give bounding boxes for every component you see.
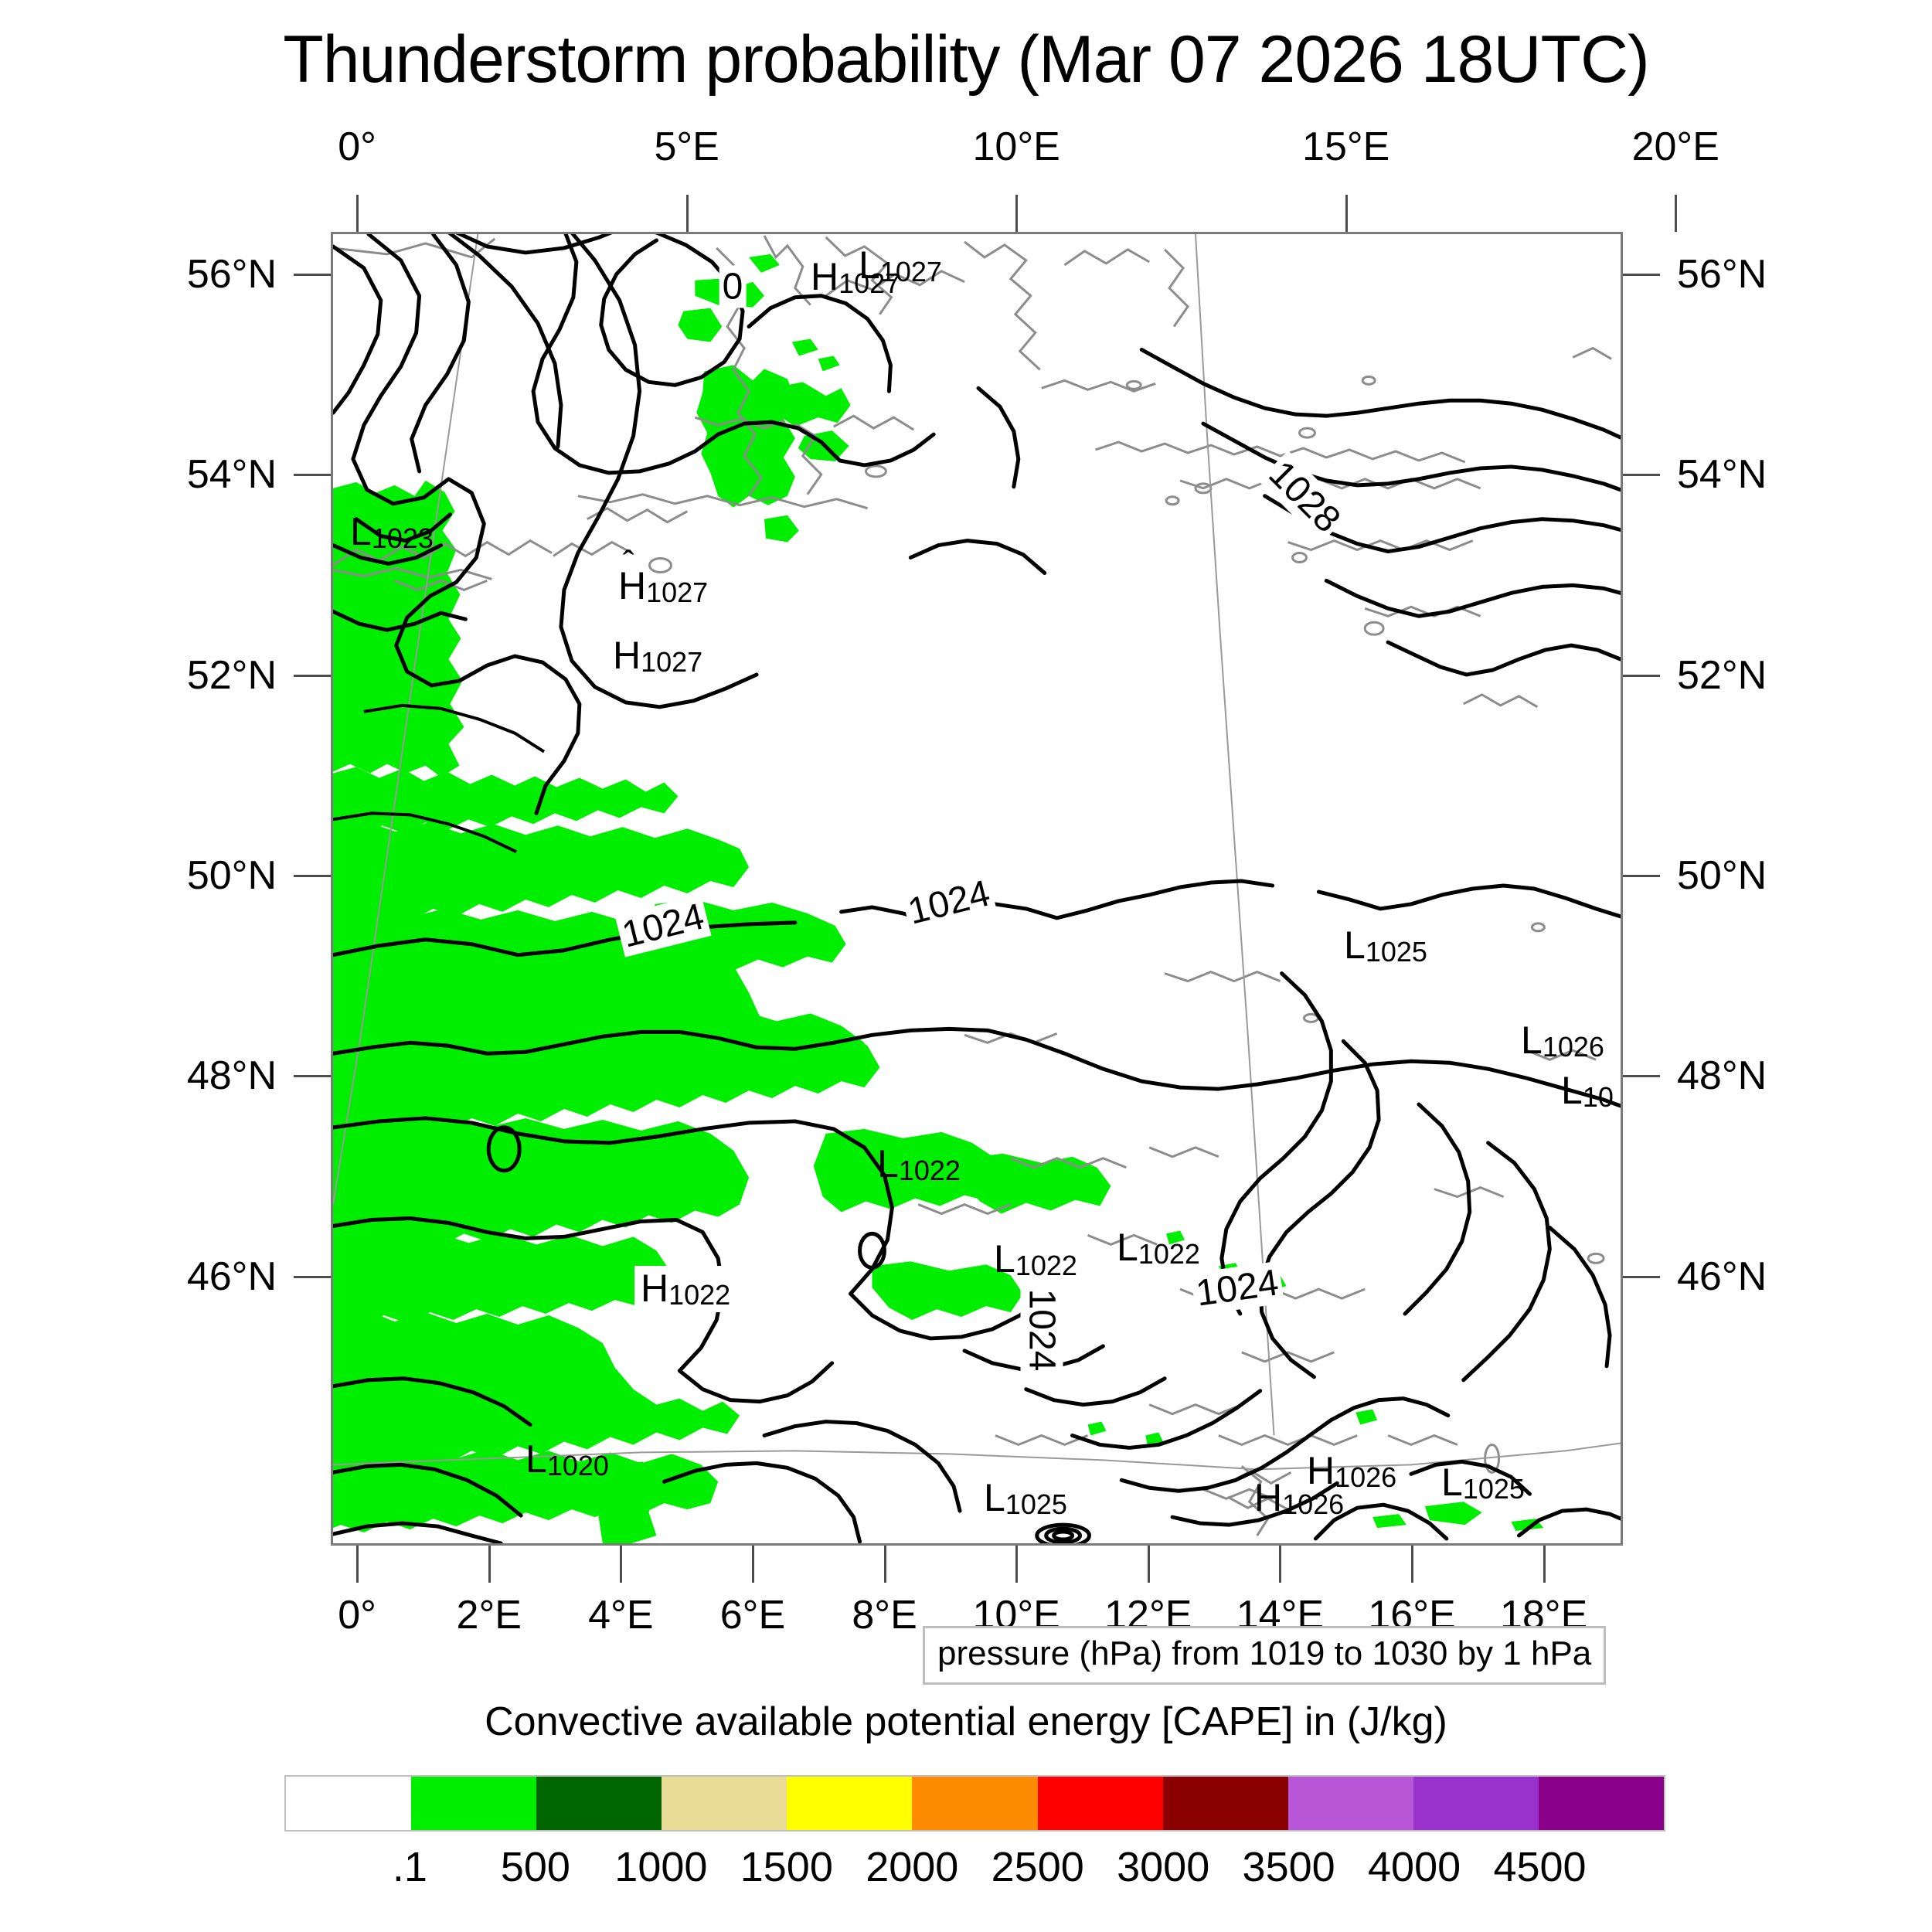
pressure-center-value: 1022	[899, 1155, 961, 1186]
page-title: Thunderstorm probability (Mar 07 2026 18…	[0, 22, 1932, 98]
top-tick-label-0: 0°	[338, 124, 376, 170]
colorbar-label-0: .1	[393, 1843, 427, 1891]
low-pressure-label-7: L10	[1561, 1071, 1614, 1111]
pressure-center-value: 1022	[668, 1279, 730, 1311]
pressure-center-type: L	[1344, 923, 1366, 967]
left-tick-4	[294, 1075, 331, 1077]
bottom-tick-0	[356, 1546, 359, 1583]
top-tick-0	[356, 195, 359, 232]
colorbar-label-6: 3000	[1117, 1843, 1209, 1891]
right-tick-2	[1623, 675, 1660, 677]
left-tick-label-1: 54°N	[187, 451, 277, 498]
pressure-center-value: 1027	[880, 256, 942, 287]
pressure-center-value: 1027	[646, 577, 708, 608]
colorbar-label-8: 4000	[1368, 1843, 1461, 1891]
bottom-tick-8	[1411, 1546, 1413, 1583]
pressure-center-value: 1025	[1463, 1473, 1525, 1505]
top-tick-label-2: 10°E	[973, 124, 1060, 170]
left-tick-label-4: 48°N	[187, 1053, 277, 1099]
pressure-center-value: 1023	[372, 522, 434, 554]
right-tick-4	[1623, 1075, 1660, 1077]
colorbar-band-4[interactable]	[787, 1777, 912, 1830]
left-tick-2	[294, 675, 331, 677]
bottom-tick-2	[620, 1546, 622, 1583]
left-tick-0	[294, 274, 331, 276]
top-tick-2	[1015, 195, 1018, 232]
colorbar-tick-labels: .150010001500200025003000350040004500	[284, 1843, 1665, 1897]
bottom-tick-4	[884, 1546, 886, 1583]
low-pressure-label-9: L1022	[994, 1240, 1077, 1280]
colorbar-label-2: 1000	[614, 1843, 707, 1891]
pressure-center-type: L	[1441, 1461, 1463, 1504]
pressure-center-type: L	[526, 1437, 547, 1481]
right-tick-3	[1623, 875, 1660, 877]
top-tick-label-1: 5°E	[654, 124, 719, 170]
pressure-center-value: 1022	[1015, 1250, 1077, 1281]
pressure-center-value: 1022	[1138, 1238, 1200, 1270]
colorbar-band-6[interactable]	[1038, 1777, 1163, 1830]
high-pressure-label-0: ˆH1027	[618, 566, 708, 607]
pressure-center-type: H	[1254, 1476, 1282, 1519]
low-pressure-label-2: L1023	[350, 512, 434, 553]
colorbar-band-9[interactable]	[1413, 1777, 1539, 1830]
top-tick-4	[1675, 195, 1677, 232]
pressure-center-type: L	[350, 510, 372, 553]
pressure-center-type: L	[984, 1476, 1005, 1519]
low-pressure-label-10: L1022	[1117, 1228, 1200, 1268]
pressure-center-type: H	[811, 255, 838, 298]
bottom-tick-7	[1279, 1546, 1281, 1583]
colorbar-label-5: 2500	[992, 1843, 1084, 1891]
colorbar-band-3[interactable]	[662, 1777, 787, 1830]
right-tick-5	[1623, 1276, 1660, 1278]
colorbar-band-7[interactable]	[1163, 1777, 1288, 1830]
colorbar-label-3: 1500	[740, 1843, 833, 1891]
contour-label-5: 0	[719, 266, 747, 308]
right-tick-1	[1623, 474, 1660, 476]
right-tick-label-4: 48°N	[1677, 1053, 1767, 1099]
colorbar-band-5[interactable]	[912, 1777, 1037, 1830]
top-tick-1	[686, 195, 689, 232]
right-tick-label-5: 46°N	[1677, 1253, 1767, 1300]
bottom-tick-1	[488, 1546, 491, 1583]
top-tick-3	[1345, 195, 1348, 232]
colorbar-band-2[interactable]	[536, 1777, 662, 1830]
pressure-center-type: H	[1307, 1449, 1335, 1492]
low-pressure-label-5: L1025	[1344, 926, 1427, 966]
colorbar-title: Convective available potential energy [C…	[0, 1699, 1932, 1745]
pressure-center-value: 1026	[1543, 1031, 1604, 1063]
right-tick-label-0: 56°N	[1677, 251, 1767, 298]
colorbar-label-4: 2000	[866, 1843, 958, 1891]
low-pressure-label-12: L1020	[526, 1440, 609, 1480]
bottom-tick-label-0: 0°	[338, 1592, 376, 1638]
bottom-tick-5	[1015, 1546, 1018, 1583]
map-plot-area[interactable]: ˆH1027H1027L1023H1027L1027L1025L1026L10L…	[331, 232, 1623, 1546]
bottom-tick-label-2: 4°E	[588, 1592, 653, 1638]
colorbar-band-0[interactable]	[286, 1777, 411, 1830]
high-pressure-label-1: H1027	[613, 636, 702, 676]
left-tick-label-5: 46°N	[187, 1253, 277, 1300]
pressure-center-hat: ˆ	[623, 546, 634, 580]
colorbar-label-1: 500	[501, 1843, 570, 1891]
pressure-caption: pressure (hPa) from 1019 to 1030 by 1 hP…	[923, 1626, 1606, 1685]
bottom-tick-9	[1543, 1546, 1546, 1583]
low-pressure-label-16: L1025	[1441, 1463, 1525, 1503]
pressure-center-value: 1027	[641, 646, 702, 678]
bottom-tick-label-4: 8°E	[852, 1592, 917, 1638]
low-pressure-label-6: L1026	[1521, 1021, 1604, 1061]
left-tick-label-3: 50°N	[187, 852, 277, 899]
low-pressure-label-13: L1025	[984, 1478, 1067, 1519]
right-tick-label-2: 52°N	[1677, 652, 1767, 699]
high-pressure-label-15: H1026	[1307, 1451, 1396, 1492]
left-tick-1	[294, 474, 331, 476]
pressure-center-value: 1020	[547, 1450, 609, 1481]
colorbar-band-8[interactable]	[1288, 1777, 1413, 1830]
contour-label-3: 1024	[1021, 1286, 1063, 1375]
low-pressure-label-4: L1027	[859, 246, 942, 286]
colorbar-label-7: 3500	[1243, 1843, 1335, 1891]
high-pressure-label-11: H1022	[634, 1266, 736, 1312]
pressure-center-type: H	[613, 634, 641, 677]
pressure-center-type: L	[1521, 1019, 1543, 1062]
pressure-center-type: L	[994, 1237, 1015, 1281]
pressure-center-type: H	[641, 1267, 668, 1310]
colorbar-label-9: 4500	[1493, 1843, 1586, 1891]
top-tick-label-4: 20°E	[1632, 124, 1719, 170]
pressure-center-value: 1025	[1005, 1488, 1067, 1520]
right-tick-label-1: 54°N	[1677, 451, 1767, 498]
left-tick-label-2: 52°N	[187, 652, 277, 699]
left-tick-label-0: 56°N	[187, 251, 277, 298]
right-tick-label-3: 50°N	[1677, 852, 1767, 899]
pressure-center-value: 1026	[1282, 1488, 1344, 1520]
colorbar-band-10[interactable]	[1539, 1777, 1664, 1830]
bottom-tick-label-3: 6°E	[720, 1592, 785, 1638]
bottom-tick-3	[752, 1546, 754, 1583]
top-tick-label-3: 15°E	[1302, 124, 1389, 170]
pressure-center-type: L	[1117, 1226, 1138, 1269]
bottom-tick-label-1: 2°E	[457, 1592, 522, 1638]
pressure-center-value: 1026	[1335, 1461, 1396, 1493]
right-tick-0	[1623, 274, 1660, 276]
low-pressure-label-8: L1022	[877, 1145, 961, 1185]
pressure-center-type: L	[1561, 1069, 1583, 1112]
colorbar-band-1[interactable]	[411, 1777, 536, 1830]
pressure-center-value: 10	[1583, 1081, 1614, 1113]
left-tick-3	[294, 875, 331, 877]
colorbar[interactable]	[284, 1775, 1665, 1832]
pressure-center-value: 1025	[1366, 936, 1427, 968]
pressure-center-type: L	[859, 243, 880, 287]
bottom-tick-6	[1148, 1546, 1150, 1583]
pressure-center-type: L	[877, 1142, 899, 1185]
left-tick-5	[294, 1276, 331, 1278]
